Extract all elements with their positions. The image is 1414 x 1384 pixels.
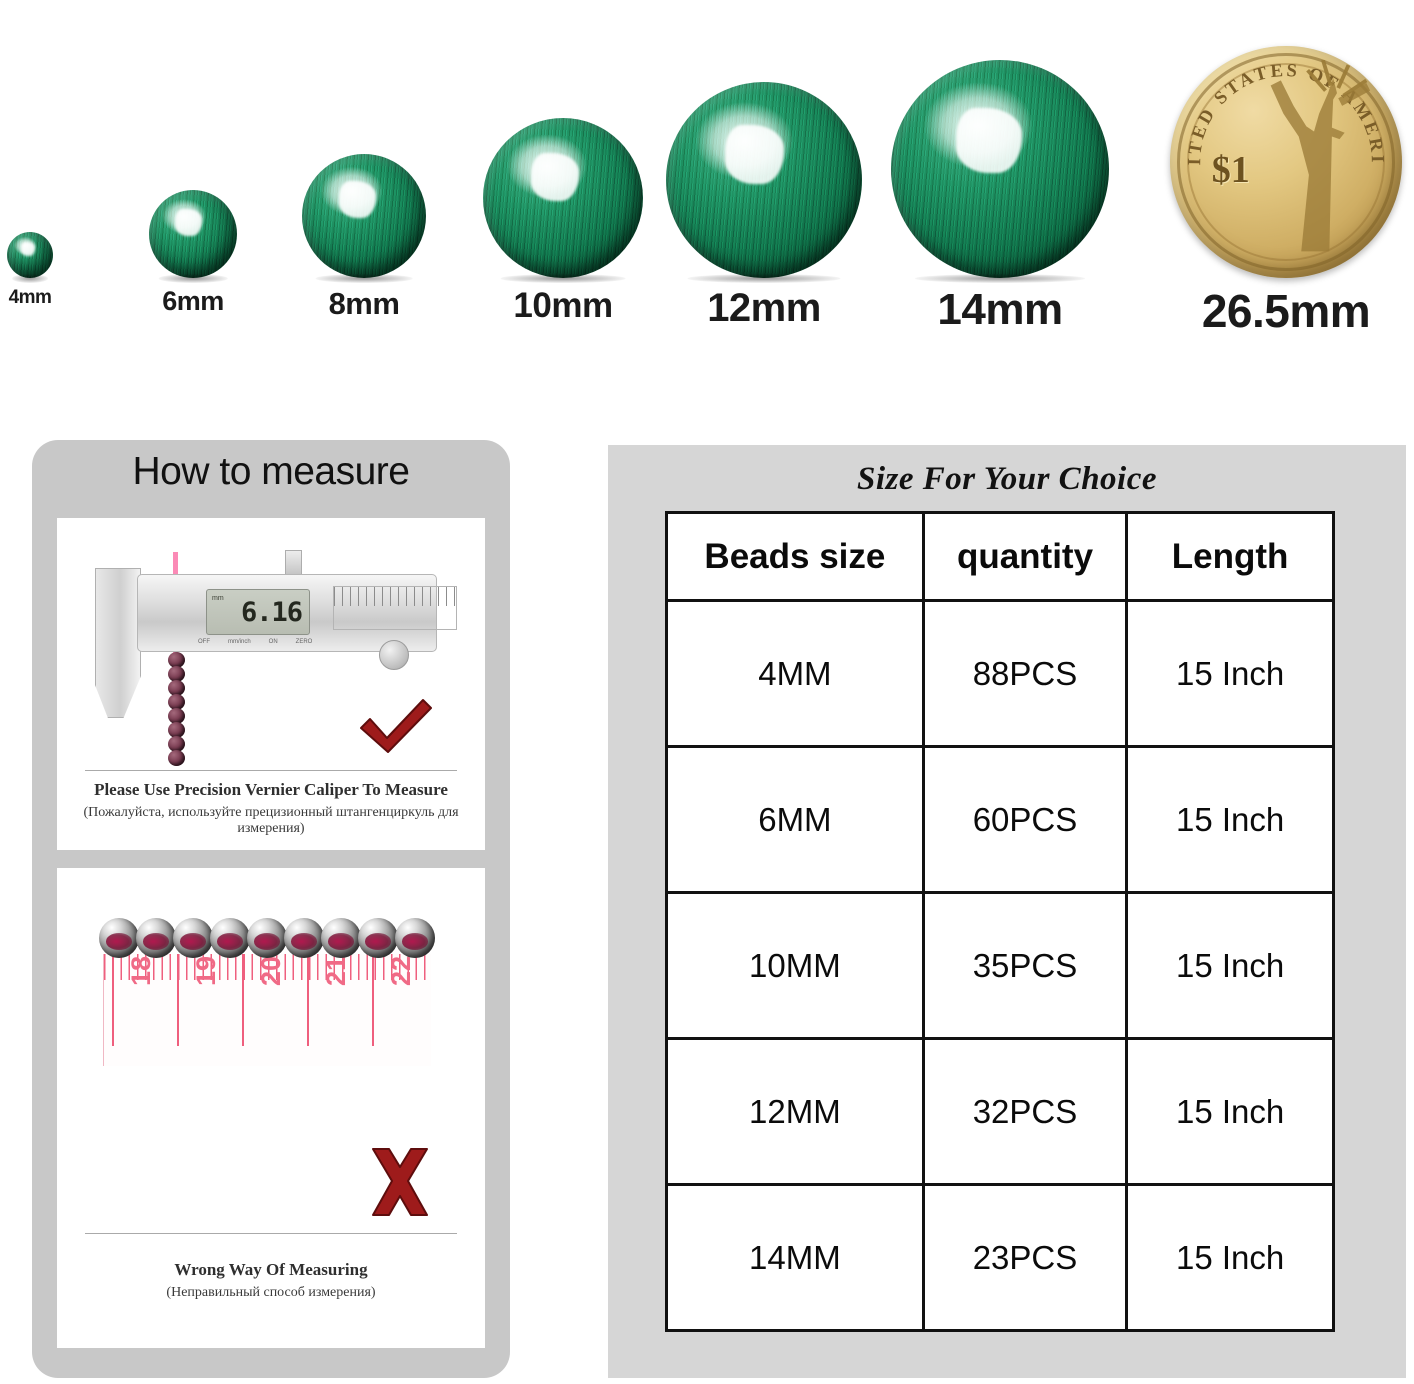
size-item-label: 14mm bbox=[937, 288, 1062, 332]
table-body: 4MM88PCS15 Inch6MM60PCS15 Inch10MM35PCS1… bbox=[667, 601, 1334, 1331]
malachite-bead-icon bbox=[666, 82, 862, 278]
size-item-label: 8mm bbox=[329, 288, 400, 319]
bead-shadow bbox=[12, 274, 48, 283]
steel-bead bbox=[173, 918, 213, 958]
correct-measure-card: mm 6.16 OFF mm/inch ON ZERO bbox=[57, 518, 485, 850]
size-table: Beads sizequantityLength 4MM88PCS15 Inch… bbox=[665, 511, 1335, 1332]
tape-number-label: 19 bbox=[191, 956, 222, 986]
product-size-infographic: 4mm6mm8mm10mm12mm14mmUNITED STATES OF AM… bbox=[0, 0, 1414, 1384]
wrong-measure-card: 1819202122 Wrong Way Of Measuring (Непра… bbox=[57, 868, 485, 1348]
table-cell-size: 6MM bbox=[667, 747, 924, 893]
caliper-unit-label: mm bbox=[212, 595, 224, 602]
caliper-off-button: OFF bbox=[198, 639, 210, 645]
how-to-measure-panel: How to measure mm 6.16 OFF mm/inch bbox=[32, 440, 510, 1378]
steel-bead bbox=[136, 918, 176, 958]
size-item-figure bbox=[483, 0, 643, 278]
caliper-thumbwheel-icon bbox=[379, 640, 409, 670]
table-cell-quantity: 60PCS bbox=[923, 747, 1126, 893]
steel-bead bbox=[395, 918, 435, 958]
tape-major-marks: 1819202122 bbox=[104, 954, 431, 1066]
how-to-measure-title: How to measure bbox=[32, 450, 510, 494]
table-cell-quantity: 35PCS bbox=[923, 893, 1126, 1039]
bead-shadow bbox=[915, 274, 1085, 283]
check-mark-icon bbox=[357, 694, 435, 758]
tape-number-label: 20 bbox=[256, 956, 287, 986]
steel-bead bbox=[99, 918, 139, 958]
malachite-bead-icon bbox=[891, 60, 1109, 278]
table-cell-size: 10MM bbox=[667, 893, 924, 1039]
steel-bead bbox=[247, 918, 287, 958]
caliper-unit-button: mm/inch bbox=[228, 639, 251, 645]
caliper-lcd-display: mm 6.16 bbox=[206, 589, 310, 635]
size-item-figure bbox=[891, 0, 1109, 278]
table-cell-quantity: 23PCS bbox=[923, 1185, 1126, 1331]
steel-bead bbox=[321, 918, 361, 958]
wrong-caption-ru: (Неправильный способ измерения) bbox=[57, 1285, 485, 1301]
size-item-label: 12mm bbox=[707, 288, 821, 328]
caliper-scale-bar bbox=[333, 586, 457, 630]
table-cell-length: 15 Inch bbox=[1127, 1185, 1334, 1331]
table-column-header-1: quantity bbox=[923, 513, 1126, 601]
tape-major-mark bbox=[177, 954, 179, 1046]
size-item-14mm: 14mm bbox=[870, 0, 1130, 352]
size-item-26-5mm: UNITED STATES OF AMERICA$126.5mm bbox=[1156, 0, 1414, 352]
table-column-header-0: Beads size bbox=[667, 513, 924, 601]
measuring-tape: 1819202122 bbox=[103, 954, 431, 1066]
steel-bead bbox=[358, 918, 398, 958]
table-row[interactable]: 12MM32PCS15 Inch bbox=[667, 1039, 1334, 1185]
size-item-12mm: 12mm bbox=[634, 0, 894, 352]
table-cell-quantity: 32PCS bbox=[923, 1039, 1126, 1185]
caliper-reading-value: 6.16 bbox=[241, 599, 302, 626]
coin-denomination: $1 bbox=[1212, 148, 1250, 192]
size-item-figure bbox=[302, 0, 426, 278]
bead-shadow bbox=[501, 274, 626, 283]
size-item-figure bbox=[7, 0, 53, 278]
table-row[interactable]: 14MM23PCS15 Inch bbox=[667, 1185, 1334, 1331]
malachite-bead-icon bbox=[483, 118, 643, 278]
size-item-figure: UNITED STATES OF AMERICA$1 bbox=[1170, 0, 1402, 278]
table-column-header-2: Length bbox=[1127, 513, 1334, 601]
tape-number-label: 18 bbox=[126, 956, 157, 986]
us-dollar-coin-icon: UNITED STATES OF AMERICA$1 bbox=[1170, 46, 1402, 278]
strand-bead bbox=[168, 750, 185, 766]
malachite-bead-icon bbox=[149, 190, 237, 278]
tape-major-mark bbox=[242, 954, 244, 1046]
caliper-depth-post-icon bbox=[285, 550, 302, 576]
table-cell-size: 14MM bbox=[667, 1185, 924, 1331]
caliper-zero-button: ZERO bbox=[296, 639, 313, 645]
table-cell-length: 15 Inch bbox=[1127, 601, 1334, 747]
tape-number-label: 22 bbox=[386, 956, 417, 986]
caliper-photo: mm 6.16 OFF mm/inch ON ZERO bbox=[85, 546, 457, 771]
bead-shadow bbox=[159, 274, 228, 283]
correct-caption-en: Please Use Precision Vernier Caliper To … bbox=[57, 780, 485, 800]
size-item-label: 26.5mm bbox=[1202, 288, 1370, 334]
lower-section: How to measure mm 6.16 OFF mm/inch bbox=[0, 352, 1414, 1384]
table-cell-size: 4MM bbox=[667, 601, 924, 747]
table-row[interactable]: 10MM35PCS15 Inch bbox=[667, 893, 1334, 1039]
steel-bead bbox=[210, 918, 250, 958]
size-item-label: 4mm bbox=[9, 288, 52, 307]
table-row[interactable]: 4MM88PCS15 Inch bbox=[667, 601, 1334, 747]
steel-bead bbox=[284, 918, 324, 958]
table-cell-length: 15 Inch bbox=[1127, 747, 1334, 893]
caliper-button-row: OFF mm/inch ON ZERO bbox=[198, 636, 398, 647]
tape-major-mark bbox=[112, 954, 114, 1046]
caliper-jaw-icon bbox=[95, 568, 141, 718]
size-comparison-strip: 4mm6mm8mm10mm12mm14mmUNITED STATES OF AM… bbox=[0, 0, 1414, 352]
malachite-bead-icon bbox=[302, 154, 426, 278]
measured-bead-strand bbox=[167, 654, 185, 768]
ruler-photo: 1819202122 bbox=[85, 894, 457, 1234]
caliper-on-button: ON bbox=[269, 639, 278, 645]
tape-major-mark bbox=[372, 954, 374, 1046]
wrong-caption-en: Wrong Way Of Measuring bbox=[57, 1260, 485, 1280]
table-cell-quantity: 88PCS bbox=[923, 601, 1126, 747]
table-cell-length: 15 Inch bbox=[1127, 893, 1334, 1039]
size-item-figure bbox=[666, 0, 862, 278]
bead-shadow bbox=[688, 274, 841, 283]
cross-mark-icon bbox=[363, 1145, 437, 1219]
tape-number-label: 21 bbox=[321, 956, 352, 986]
table-header-row: Beads sizequantityLength bbox=[667, 513, 1334, 601]
correct-caption-ru: (Пожалуйста, используйте прецизионный шт… bbox=[57, 805, 485, 837]
steel-bead-strand bbox=[99, 916, 437, 960]
size-item-label: 6mm bbox=[162, 288, 224, 315]
bead-shadow bbox=[316, 274, 413, 283]
tape-major-mark bbox=[307, 954, 309, 1046]
malachite-bead-icon bbox=[7, 232, 53, 278]
size-item-label: 10mm bbox=[513, 288, 612, 323]
statue-of-liberty-icon bbox=[1258, 60, 1388, 264]
size-table-heading: Size For Your Choice bbox=[608, 461, 1406, 498]
table-cell-length: 15 Inch bbox=[1127, 1039, 1334, 1185]
table-row[interactable]: 6MM60PCS15 Inch bbox=[667, 747, 1334, 893]
table-cell-size: 12MM bbox=[667, 1039, 924, 1185]
size-item-figure bbox=[149, 0, 237, 278]
size-table-panel: Size For Your Choice Beads sizequantityL… bbox=[608, 445, 1406, 1378]
